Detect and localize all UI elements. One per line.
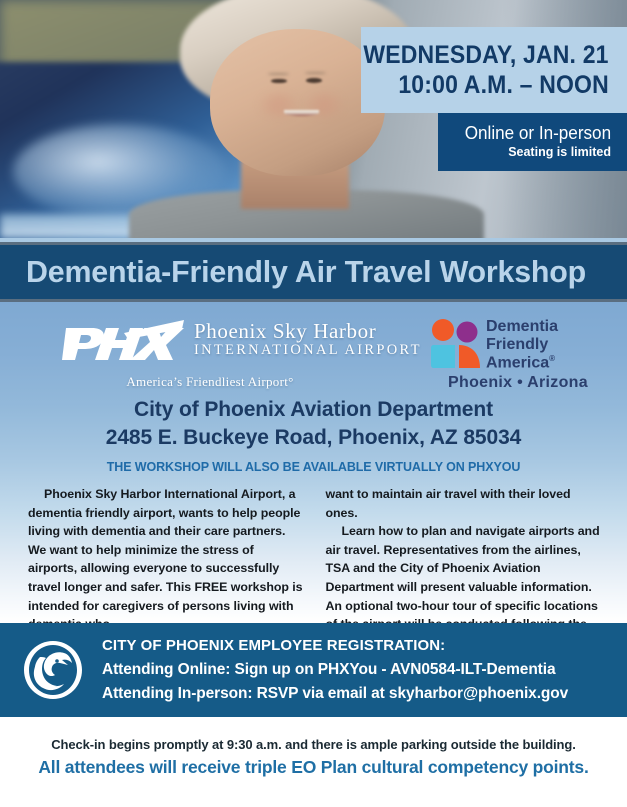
- event-format-block: Online or In-person Seating is limited: [438, 113, 627, 171]
- checkin-note: Check-in begins promptly at 9:30 a.m. an…: [0, 737, 627, 752]
- event-format: Online or In-person: [465, 124, 611, 144]
- description-paragraph-2: want to maintain air travel with their l…: [326, 485, 604, 522]
- dfa-line-2: Friendly: [486, 336, 558, 354]
- registered-mark: ®: [549, 354, 555, 363]
- registration-online: Attending Online: Sign up on PHXYou - AV…: [102, 658, 568, 682]
- event-date-block: WEDNESDAY, JAN. 21 10:00 A.M. – NOON: [361, 27, 627, 113]
- registration-heading: CITY OF PHOENIX EMPLOYEE REGISTRATION:: [102, 634, 568, 657]
- dementia-friendly-people-icon: [428, 318, 484, 370]
- eye-right: [306, 78, 322, 83]
- venue-name: City of Phoenix Aviation Department: [0, 396, 627, 424]
- event-time: 10:00 A.M. – NOON: [398, 72, 609, 99]
- registration-inperson: Attending In-person: RSVP via email at s…: [102, 682, 568, 706]
- description-paragraph-1: Phoenix Sky Harbor International Airport…: [28, 485, 306, 634]
- face: [210, 29, 385, 177]
- registration-bar: CITY OF PHOENIX EMPLOYEE REGISTRATION: A…: [0, 623, 627, 717]
- phx-wordmark: Phoenix Sky Harbor INTERNATIONAL AIRPORT: [194, 321, 422, 358]
- eye-left: [271, 79, 287, 84]
- phx-swoosh-icon: [62, 318, 192, 364]
- eyebrow-left: [268, 73, 289, 75]
- title-bar: Dementia-Friendly Air Travel Workshop: [0, 242, 627, 302]
- virtual-availability-note: THE WORKSHOP WILL ALSO BE AVAILABLE VIRT…: [0, 460, 627, 474]
- dfa-line-1: Dementia: [486, 318, 558, 336]
- dfa-line-3: America: [486, 355, 549, 372]
- seating-note: Seating is limited: [508, 145, 611, 160]
- dementia-friendly-america-logo: Dementia Friendly America® Phoenix • Ari…: [428, 318, 608, 390]
- registration-text: CITY OF PHOENIX EMPLOYEE REGISTRATION: A…: [102, 634, 568, 705]
- phx-wordmark-line2: INTERNATIONAL AIRPORT: [194, 343, 422, 358]
- phoenix-bird-seal-icon: [22, 639, 84, 701]
- dfa-location: Phoenix • Arizona: [428, 374, 608, 392]
- flyer-poster: WEDNESDAY, JAN. 21 10:00 A.M. – NOON Onl…: [0, 0, 627, 807]
- phx-tagline: America’s Friendliest Airport°: [0, 374, 420, 390]
- phx-wordmark-line1: Phoenix Sky Harbor: [194, 321, 422, 342]
- eo-points-note: All attendees will receive triple EO Pla…: [0, 757, 627, 778]
- venue-street: 2485 E. Buckeye Road, Phoenix, AZ 85034: [0, 424, 627, 452]
- dfa-wordmark: Dementia Friendly America®: [486, 318, 558, 373]
- dfa-line-3-wrap: America®: [486, 354, 558, 373]
- venue-address-block: City of Phoenix Aviation Department 2485…: [0, 396, 627, 474]
- page-title: Dementia-Friendly Air Travel Workshop: [26, 254, 586, 290]
- event-date: WEDNESDAY, JAN. 21: [364, 42, 609, 69]
- footer-notes: Check-in begins promptly at 9:30 a.m. an…: [0, 717, 627, 807]
- eyebrow-right: [305, 72, 326, 74]
- phoenix-sky-harbor-logo: Phoenix Sky Harbor INTERNATIONAL AIRPORT: [62, 318, 402, 366]
